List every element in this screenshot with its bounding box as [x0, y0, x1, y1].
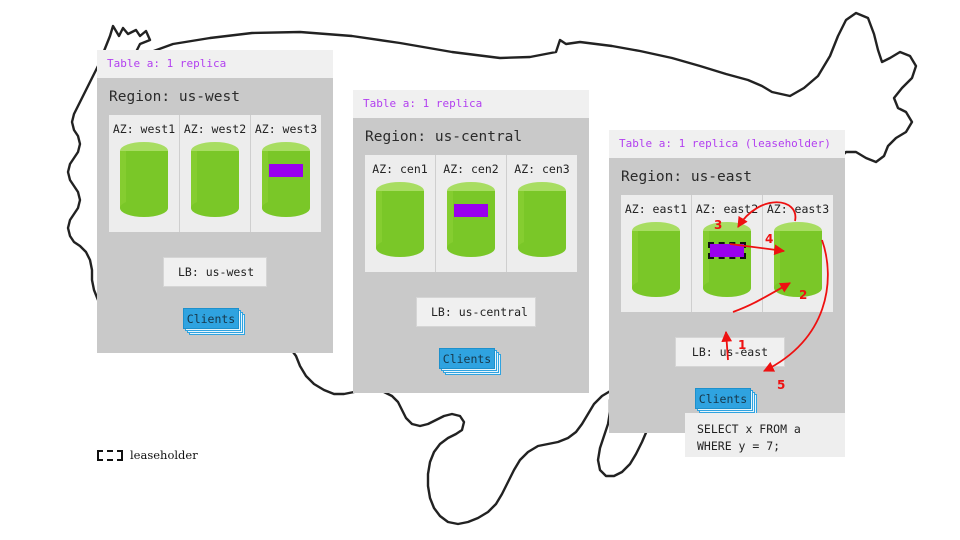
arrow-step-4-label: 4 [765, 232, 773, 246]
cylinder-shade-icon [632, 231, 638, 288]
replica-label-us-west: Table a: 1 replica [107, 57, 323, 70]
az-cell-east1[interactable]: AZ: east1 [621, 195, 692, 312]
cylinder-bottom-icon [120, 199, 168, 217]
az-cell-cen2[interactable]: AZ: cen2 [436, 155, 507, 272]
az-cell-east2[interactable]: AZ: east2 [692, 195, 763, 312]
cylinder-shade-icon [376, 191, 382, 248]
node-cylinder-cen2[interactable] [447, 182, 495, 256]
clients-stack-us-west[interactable]: Clients [183, 308, 245, 334]
region-panel-us-central: Table a: 1 replica Region: us-central AZ… [353, 90, 589, 393]
region-header-us-central: Table a: 1 replica [353, 90, 589, 118]
az-label-cen2: AZ: cen2 [436, 162, 506, 176]
region-panel-us-east: Table a: 1 replica (leaseholder) Region:… [609, 130, 845, 433]
replica-label-us-east: Table a: 1 replica (leaseholder) [619, 137, 835, 150]
region-body-us-west: Region: us-west AZ: west1 AZ: west2 [97, 78, 333, 353]
cylinder-shade-icon [191, 151, 197, 208]
cylinder-shade-icon [774, 231, 780, 288]
cylinder-bottom-icon [376, 239, 424, 257]
region-title-us-east: Region: us-east [609, 158, 845, 195]
cylinder-bottom-icon [518, 239, 566, 257]
sql-query-box: SELECT x FROM a WHERE y = 7; [685, 413, 845, 457]
az-cell-west3[interactable]: AZ: west3 [251, 115, 321, 232]
az-strip-us-west: AZ: west1 AZ: west2 [109, 115, 321, 232]
az-label-west2: AZ: west2 [180, 122, 250, 136]
cylinder-shade-icon [518, 191, 524, 248]
node-cylinder-west3[interactable] [262, 142, 310, 216]
az-label-cen3: AZ: cen3 [507, 162, 577, 176]
az-label-east3: AZ: east3 [763, 202, 833, 216]
node-cylinder-cen3[interactable] [518, 182, 566, 256]
cylinder-shade-icon [120, 151, 126, 208]
cylinder-bottom-icon [447, 239, 495, 257]
region-body-us-central: Region: us-central AZ: cen1 AZ: cen2 [353, 118, 589, 393]
node-cylinder-east1[interactable] [632, 222, 680, 296]
arrow-step-1-label: 1 [738, 338, 746, 352]
replica-label-us-central: Table a: 1 replica [363, 97, 579, 110]
legend-label: leaseholder [130, 448, 198, 462]
clients-stack-us-east[interactable]: Clients [695, 388, 757, 414]
az-label-east2: AZ: east2 [692, 202, 762, 216]
region-title-us-central: Region: us-central [353, 118, 589, 155]
legend: leaseholder [97, 448, 198, 462]
az-strip-us-central: AZ: cen1 AZ: cen2 [365, 155, 577, 272]
node-cylinder-cen1[interactable] [376, 182, 424, 256]
az-cell-east3[interactable]: AZ: east3 [763, 195, 833, 312]
leaseholder-marker-east2 [710, 244, 744, 257]
az-label-east1: AZ: east1 [621, 202, 691, 216]
region-panel-us-west: Table a: 1 replica Region: us-west AZ: w… [97, 50, 333, 353]
cylinder-bottom-icon [703, 279, 751, 297]
node-cylinder-west2[interactable] [191, 142, 239, 216]
region-title-us-west: Region: us-west [97, 78, 333, 115]
replica-marker-cen2 [454, 204, 488, 217]
az-cell-cen3[interactable]: AZ: cen3 [507, 155, 577, 272]
cylinder-shade-icon [703, 231, 709, 288]
clients-label-us-central: Clients [439, 348, 495, 369]
clients-label-us-west: Clients [183, 308, 239, 329]
load-balancer-us-west[interactable]: LB: us-west [163, 257, 267, 287]
az-cell-west2[interactable]: AZ: west2 [180, 115, 251, 232]
arrow-step-5-label: 5 [777, 378, 785, 392]
cylinder-shade-icon [262, 151, 268, 208]
dashed-rect-icon [97, 450, 123, 461]
load-balancer-us-east[interactable]: LB: us-east [675, 337, 785, 367]
az-label-cen1: AZ: cen1 [365, 162, 435, 176]
cylinder-bottom-icon [262, 199, 310, 217]
az-label-west1: AZ: west1 [109, 122, 179, 136]
clients-label-us-east: Clients [695, 388, 751, 409]
region-header-us-east: Table a: 1 replica (leaseholder) [609, 130, 845, 158]
cylinder-shade-icon [447, 191, 453, 248]
region-body-us-east: Region: us-east AZ: east1 AZ: east2 [609, 158, 845, 433]
node-cylinder-east3[interactable] [774, 222, 822, 296]
cylinder-bottom-icon [774, 279, 822, 297]
node-cylinder-west1[interactable] [120, 142, 168, 216]
clients-stack-us-central[interactable]: Clients [439, 348, 501, 374]
cylinder-bottom-icon [191, 199, 239, 217]
diagram-canvas: Table a: 1 replica Region: us-west AZ: w… [0, 0, 960, 540]
az-cell-west1[interactable]: AZ: west1 [109, 115, 180, 232]
replica-marker-west3 [269, 164, 303, 177]
cylinder-bottom-icon [632, 279, 680, 297]
load-balancer-us-central[interactable]: LB: us-central [416, 297, 536, 327]
arrow-step-2-label: 2 [799, 288, 807, 302]
arrow-step-3-label: 3 [714, 218, 722, 232]
region-header-us-west: Table a: 1 replica [97, 50, 333, 78]
node-cylinder-east2[interactable] [703, 222, 751, 296]
az-label-west3: AZ: west3 [251, 122, 321, 136]
az-cell-cen1[interactable]: AZ: cen1 [365, 155, 436, 272]
